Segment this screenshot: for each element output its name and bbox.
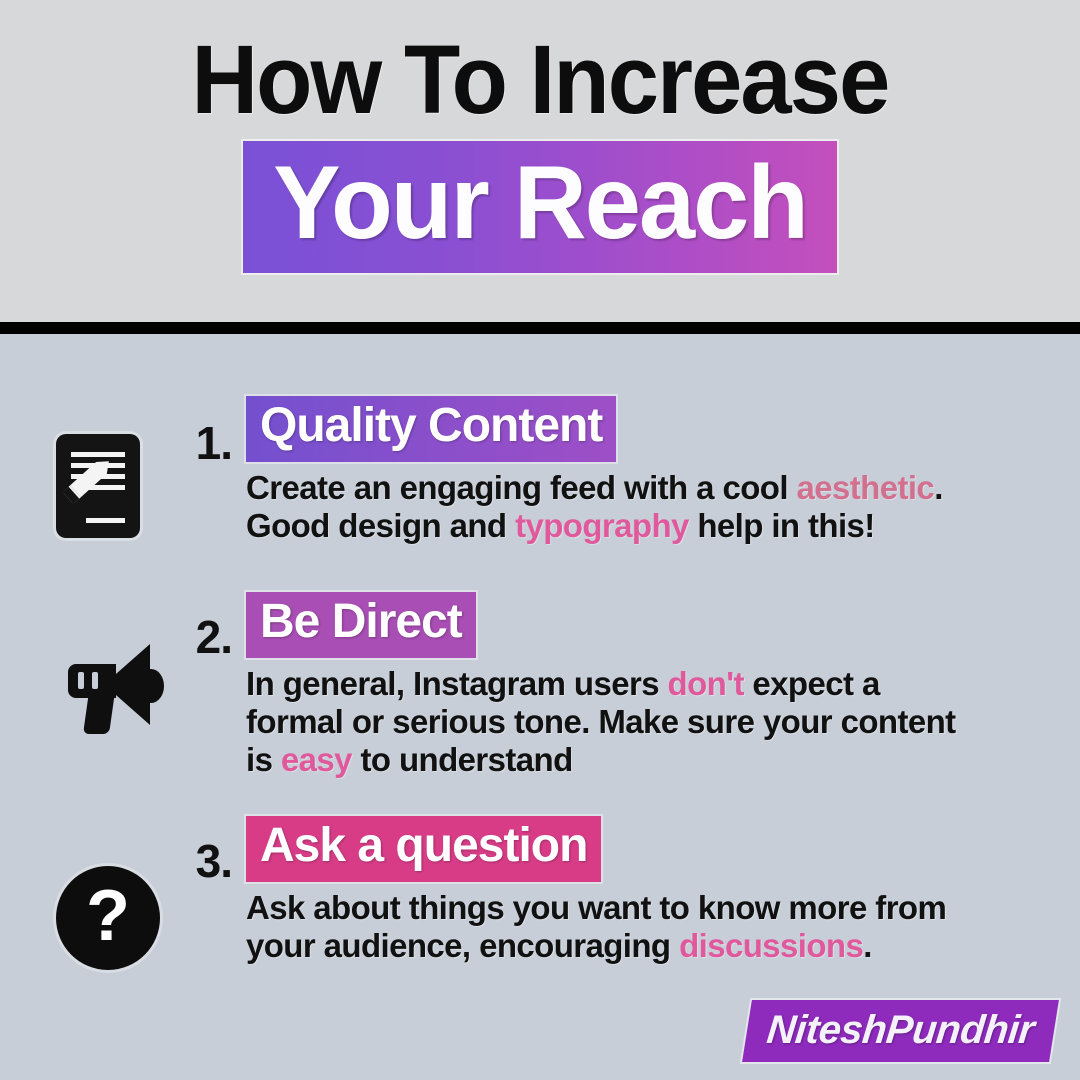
step-description: In general, Instagram users don't expect… — [246, 665, 1056, 779]
page-title-line1: How To Increase — [27, 28, 1053, 132]
desc-text: . — [934, 469, 943, 506]
header-divider — [0, 322, 1080, 334]
step-heading: Quality Content — [246, 396, 616, 462]
watermark-label: NiteshPundhir — [765, 1007, 1037, 1053]
header-banner: How To Increase Your Reach — [0, 0, 1080, 322]
step-number: 3. — [176, 836, 232, 886]
document-edit-icon — [56, 434, 166, 544]
desc-text: your audience, encouraging — [246, 927, 679, 964]
step-heading: Ask a question — [246, 816, 601, 882]
step-number: 1. — [176, 418, 232, 468]
megaphone-icon — [56, 636, 166, 746]
desc-accent-word: typography — [515, 507, 689, 544]
desc-text: In general, Instagram users — [246, 665, 668, 702]
desc-accent-word: discussions — [679, 927, 863, 964]
step-body: Quality Content Create an engaging feed … — [246, 396, 1056, 545]
infographic-canvas: How To Increase Your Reach 1. — [0, 0, 1080, 1080]
question-mark-glyph: ? — [56, 866, 160, 970]
desc-accent-word: easy — [281, 741, 352, 778]
desc-text: Create an engaging feed with a cool — [246, 469, 797, 506]
step-description: Create an engaging feed with a cool aest… — [246, 469, 1056, 545]
step-description: Ask about things you want to know more f… — [246, 889, 1056, 965]
step-number: 2. — [176, 612, 232, 662]
page-title-line2-wrap: Your Reach — [0, 141, 1080, 273]
watermark-badge: NiteshPundhir — [742, 1000, 1059, 1062]
step-body: Ask a question Ask about things you want… — [246, 816, 1056, 965]
desc-text: . — [863, 927, 872, 964]
desc-text: is — [246, 741, 281, 778]
page-title-line2: Your Reach — [273, 147, 807, 259]
desc-text: help in this! — [689, 507, 875, 544]
desc-text: to understand — [352, 741, 573, 778]
desc-text: Good design and — [246, 507, 515, 544]
question-mark-icon: ? — [56, 866, 166, 976]
desc-text: formal or serious tone. Make sure your c… — [246, 703, 956, 740]
step-body: Be Direct In general, Instagram users do… — [246, 592, 1056, 779]
desc-text: expect a — [744, 665, 880, 702]
step-heading: Be Direct — [246, 592, 476, 658]
steps-list: 1. Quality Content Create an engaging fe… — [0, 334, 1080, 1080]
desc-accent-word: aesthetic — [797, 469, 935, 506]
desc-accent-word: don't — [668, 665, 744, 702]
desc-text: Ask about things you want to know more f… — [246, 889, 946, 926]
page-title-highlight-box: Your Reach — [243, 141, 837, 273]
